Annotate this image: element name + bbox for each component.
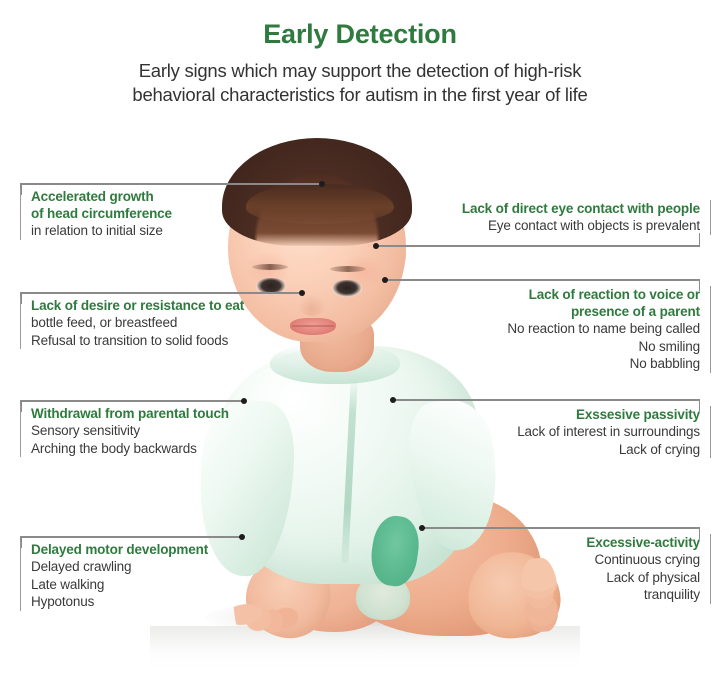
- page-title: Early Detection: [0, 20, 720, 50]
- leader-dot: [382, 277, 388, 283]
- callout-detail-2: Lack of crying: [432, 441, 700, 459]
- callout-detail-3: tranquility: [432, 586, 700, 604]
- callout-heading-line-1: Lack of reaction to voice or: [432, 286, 700, 303]
- callout-heading-line-1: Delayed motor development: [31, 541, 303, 558]
- callout-detail-3: No babbling: [432, 355, 700, 373]
- baby-right-eye: [332, 280, 362, 297]
- baby-left-eyebrow: [252, 264, 288, 270]
- callout-eye-contact: Lack of direct eye contact with people E…: [432, 200, 711, 235]
- callout-eating: Lack of desire or resistance to eat bott…: [20, 297, 303, 349]
- callout-detail-2: Lack of physical: [432, 569, 700, 587]
- callout-heading: Lack of reaction to voice or presence of…: [432, 286, 700, 320]
- callout-heading-line-2: presence of a parent: [432, 303, 700, 320]
- leader-line-excessive-activity: [422, 527, 700, 529]
- leader-riser: [699, 233, 701, 245]
- callout-heading-line-1: Lack of direct eye contact with people: [432, 200, 700, 217]
- callout-detail-1: Sensory sensitivity: [31, 422, 303, 440]
- leader-dot: [241, 398, 247, 404]
- leader-dot: [299, 290, 305, 296]
- callout-detail-2: Arching the body backwards: [31, 440, 303, 458]
- callout-passivity: Exssesive passivity Lack of interest in …: [432, 406, 711, 458]
- baby-right-eyebrow: [330, 266, 366, 272]
- infographic-root: Early Detection Early signs which may su…: [0, 0, 720, 684]
- callout-heading: Lack of desire or resistance to eat: [31, 297, 303, 314]
- callout-heading-line-1: Excessive-activity: [432, 534, 700, 551]
- callout-detail-2: No smiling: [432, 338, 700, 356]
- callout-voice-reaction: Lack of reaction to voice or presence of…: [432, 286, 711, 373]
- callout-heading-line-2: of head circumference: [31, 205, 281, 222]
- callout-detail-1: Delayed crawling: [31, 558, 303, 576]
- callout-head-circumference: Accelerated growth of head circumference…: [20, 188, 281, 240]
- callout-heading-line-1: Accelerated growth: [31, 188, 281, 205]
- leader-line-head-circumference: [20, 183, 322, 185]
- leader-dot: [373, 243, 379, 249]
- callout-detail-1: Eye contact with objects is prevalent: [432, 217, 700, 235]
- page-subtitle: Early signs which may support the detect…: [0, 59, 720, 108]
- leader-dot: [319, 181, 325, 187]
- leader-line-passivity: [393, 399, 700, 401]
- callout-heading: Exssesive passivity: [432, 406, 700, 423]
- leader-dot: [390, 397, 396, 403]
- callout-heading-line-1: Exssesive passivity: [432, 406, 700, 423]
- callout-heading: Excessive-activity: [432, 534, 700, 551]
- leader-dot: [419, 525, 425, 531]
- leader-line-motor-development: [20, 536, 242, 538]
- subtitle-line-1: Early signs which may support the detect…: [0, 59, 720, 83]
- leader-line-eye-contact: [376, 245, 700, 247]
- callout-excessive-activity: Excessive-activity Continuous crying Lac…: [432, 534, 711, 604]
- callout-detail-1: Continuous crying: [432, 551, 700, 569]
- leader-line-voice-reaction: [385, 279, 700, 281]
- callout-heading: Lack of direct eye contact with people: [432, 200, 700, 217]
- callout-parental-touch: Withdrawal from parental touch Sensory s…: [20, 405, 303, 457]
- callout-heading-line-1: Lack of desire or resistance to eat: [31, 297, 303, 314]
- callout-detail-2: Late walking: [31, 576, 303, 594]
- subtitle-line-2: behavioral characteristics for autism in…: [0, 83, 720, 107]
- leader-line-eating: [20, 292, 302, 294]
- callout-detail-3: Hypotonus: [31, 593, 303, 611]
- callout-detail-1: Lack of interest in surroundings: [432, 423, 700, 441]
- leader-dot: [239, 534, 245, 540]
- callout-detail-1: No reaction to name being called: [432, 320, 700, 338]
- callout-detail-1: in relation to initial size: [31, 222, 281, 240]
- header: Early Detection Early signs which may su…: [0, 0, 720, 108]
- callout-heading-line-1: Withdrawal from parental touch: [31, 405, 303, 422]
- callout-heading: Accelerated growth of head circumference: [31, 188, 281, 222]
- leader-line-parental-touch: [20, 400, 244, 402]
- callout-heading: Delayed motor development: [31, 541, 303, 558]
- callout-motor-development: Delayed motor development Delayed crawli…: [20, 541, 303, 611]
- callout-heading: Withdrawal from parental touch: [31, 405, 303, 422]
- callout-detail-1: bottle feed, or breastfeed: [31, 314, 303, 332]
- callout-detail-2: Refusal to transition to solid foods: [31, 332, 303, 350]
